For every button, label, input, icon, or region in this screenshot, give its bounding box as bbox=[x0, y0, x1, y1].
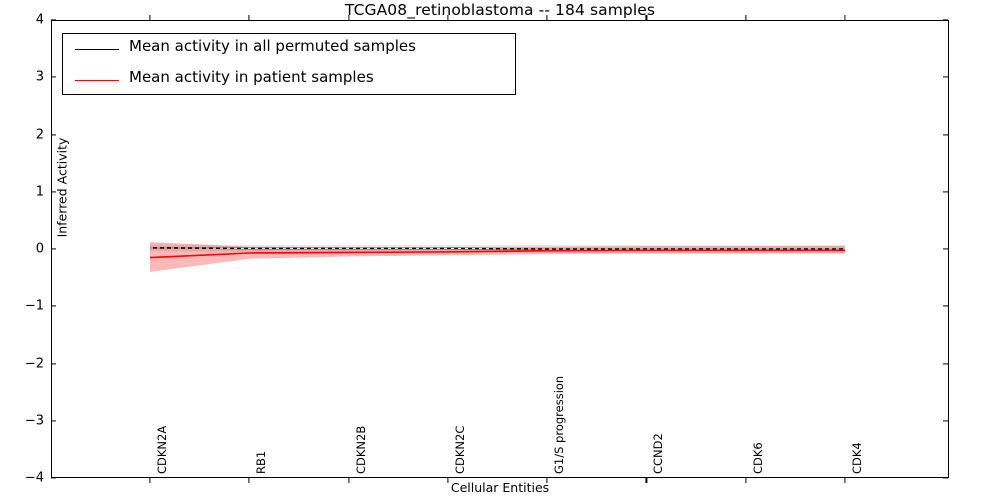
y-tick-mark bbox=[943, 477, 948, 478]
x-tick-mark-top bbox=[844, 15, 845, 20]
y-axis-label: Inferred Activity bbox=[55, 118, 70, 258]
x-tick-label: CCND2 bbox=[651, 433, 665, 474]
x-tick-mark-top bbox=[447, 15, 448, 20]
x-tick-mark-top bbox=[149, 15, 150, 20]
y-tick-mark bbox=[943, 134, 948, 135]
y-tick-mark bbox=[943, 420, 948, 421]
legend-swatch-red-line bbox=[75, 80, 119, 81]
x-tick-mark-top bbox=[249, 15, 250, 20]
x-tick-label: CDKN2C bbox=[453, 426, 467, 474]
x-tick-label: CDKN2B bbox=[354, 426, 368, 474]
y-tick-mark bbox=[943, 248, 948, 249]
x-tick-label: CDK6 bbox=[751, 442, 765, 474]
y-tick-label: 3 bbox=[2, 70, 44, 85]
y-tick-label: −2 bbox=[2, 356, 44, 371]
y-tick-mark bbox=[51, 420, 56, 421]
y-tick-label: 2 bbox=[2, 127, 44, 142]
x-tick-label: G1/S progression bbox=[552, 376, 566, 474]
y-tick-mark bbox=[51, 77, 56, 78]
legend-label-permuted: Mean activity in all permuted samples bbox=[129, 37, 416, 55]
x-tick-mark-top bbox=[348, 15, 349, 20]
y-tick-label: 4 bbox=[2, 13, 44, 28]
x-tick-label: CDKN2A bbox=[155, 426, 169, 474]
y-tick-mark bbox=[943, 191, 948, 192]
y-tick-mark bbox=[51, 19, 56, 20]
y-tick-mark bbox=[943, 363, 948, 364]
chart-figure: TCGA08_retinoblastoma -- 184 samples −4−… bbox=[0, 0, 1000, 500]
y-tick-label: −1 bbox=[2, 299, 44, 314]
y-tick-mark bbox=[943, 77, 948, 78]
x-tick-mark-top bbox=[646, 15, 647, 20]
x-tick-mark-top bbox=[547, 15, 548, 20]
x-axis-label: Cellular Entities bbox=[0, 480, 1000, 495]
legend-swatch-black-line bbox=[75, 49, 119, 50]
y-tick-mark bbox=[51, 363, 56, 364]
x-tick-mark-top bbox=[745, 15, 746, 20]
x-tick-label: RB1 bbox=[254, 451, 268, 474]
x-tick-label: CDK4 bbox=[850, 442, 864, 474]
y-tick-mark bbox=[51, 306, 56, 307]
y-tick-mark bbox=[943, 306, 948, 307]
y-tick-mark bbox=[943, 19, 948, 20]
legend-entry-patient: Mean activity in patient samples bbox=[63, 65, 515, 96]
chart-legend: Mean activity in all permuted samples Me… bbox=[62, 33, 516, 95]
legend-label-patient: Mean activity in patient samples bbox=[129, 68, 374, 86]
y-tick-label: 0 bbox=[2, 242, 44, 257]
y-tick-label: 1 bbox=[2, 184, 44, 199]
y-tick-label: −3 bbox=[2, 413, 44, 428]
legend-entry-permuted: Mean activity in all permuted samples bbox=[63, 34, 515, 65]
y-tick-mark bbox=[51, 477, 56, 478]
